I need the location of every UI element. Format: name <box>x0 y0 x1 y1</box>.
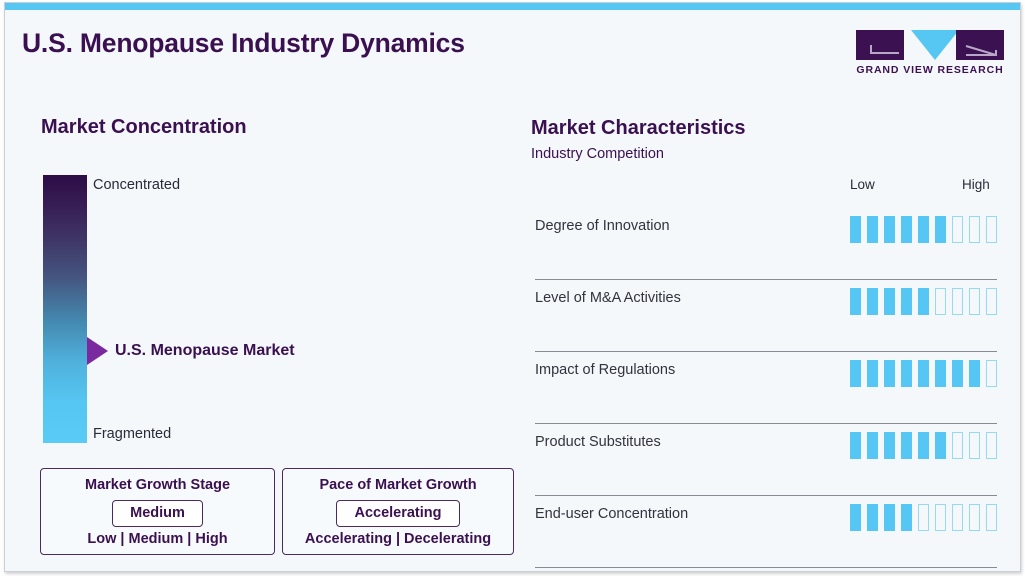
meter-segment-empty <box>952 288 963 315</box>
characteristic-meter <box>850 288 997 315</box>
pace-of-market-growth-box: Pace of Market Growth Accelerating Accel… <box>282 468 514 555</box>
meter-segment-empty <box>918 504 929 531</box>
meter-segment-empty <box>969 288 980 315</box>
logo-wordmark: GRAND VIEW RESEARCH <box>856 64 1004 76</box>
meter-segment-empty <box>969 432 980 459</box>
meter-segment-filled <box>918 360 929 387</box>
characteristic-label: Impact of Regulations <box>535 362 675 378</box>
meter-segment-empty <box>969 504 980 531</box>
meter-segment-empty <box>969 216 980 243</box>
characteristic-row: Impact of Regulations <box>535 352 997 424</box>
row-divider <box>535 567 997 568</box>
meter-segment-filled <box>901 288 912 315</box>
meter-segment-filled <box>884 432 895 459</box>
meter-segment-filled <box>901 504 912 531</box>
pace-of-market-growth-scale: Accelerating | Decelerating <box>283 531 513 547</box>
meter-segment-filled <box>935 432 946 459</box>
accent-top-bar <box>5 3 1020 10</box>
meter-segment-filled <box>969 360 980 387</box>
concentration-bottom-label: Fragmented <box>93 426 171 442</box>
characteristic-meter <box>850 504 997 531</box>
characteristic-meter <box>850 216 997 243</box>
meter-segment-empty <box>935 504 946 531</box>
meter-segment-filled <box>867 360 878 387</box>
meter-segment-empty <box>952 504 963 531</box>
characteristic-label: End-user Concentration <box>535 506 688 522</box>
meter-segment-empty <box>986 360 997 387</box>
meter-segment-filled <box>901 360 912 387</box>
meter-segment-filled <box>850 216 861 243</box>
logo-triangle-icon <box>911 30 959 60</box>
market-position-label: U.S. Menopause Market <box>115 342 295 360</box>
meter-segment-filled <box>918 288 929 315</box>
characteristic-row: Product Substitutes <box>535 424 997 496</box>
logo-slash-icon <box>956 30 1004 60</box>
meter-segment-empty <box>986 432 997 459</box>
market-growth-stage-box: Market Growth Stage Medium Low | Medium … <box>40 468 275 555</box>
characteristic-row: Level of M&A Activities <box>535 280 997 352</box>
meter-segment-filled <box>918 216 929 243</box>
infographic-card: U.S. Menopause Industry Dynamics GRAND V… <box>4 2 1021 572</box>
market-characteristics-subheading: Industry Competition <box>531 146 664 162</box>
meter-segment-filled <box>867 504 878 531</box>
characteristic-meter <box>850 360 997 387</box>
characteristic-meter <box>850 432 997 459</box>
meter-scale-low-label: Low <box>850 177 875 192</box>
characteristic-row: End-user Concentration <box>535 496 997 568</box>
market-growth-stage-value: Medium <box>112 500 203 527</box>
meter-segment-empty <box>952 432 963 459</box>
concentration-gradient-bar <box>43 175 87 443</box>
meter-segment-filled <box>884 288 895 315</box>
characteristic-label: Degree of Innovation <box>535 218 670 234</box>
meter-segment-filled <box>901 432 912 459</box>
meter-segment-filled <box>952 360 963 387</box>
meter-scale-high-label: High <box>962 177 990 192</box>
concentration-top-label: Concentrated <box>93 177 180 193</box>
market-growth-stage-title: Market Growth Stage <box>41 477 274 493</box>
meter-segment-filled <box>867 216 878 243</box>
pace-of-market-growth-title: Pace of Market Growth <box>283 477 513 493</box>
logo-notch-horizontal-icon <box>870 52 899 54</box>
meter-segment-empty <box>986 504 997 531</box>
logo-rect-left-icon <box>856 30 904 60</box>
pace-of-market-growth-value: Accelerating <box>336 500 459 527</box>
meter-segment-filled <box>850 504 861 531</box>
meter-segment-filled <box>884 360 895 387</box>
meter-segment-filled <box>850 360 861 387</box>
page-title: U.S. Menopause Industry Dynamics <box>22 28 465 59</box>
meter-segment-filled <box>867 432 878 459</box>
meter-segment-filled <box>918 432 929 459</box>
meter-segment-filled <box>901 216 912 243</box>
grand-view-research-logo: GRAND VIEW RESEARCH <box>856 30 1004 78</box>
meter-segment-filled <box>850 288 861 315</box>
market-characteristics-heading: Market Characteristics <box>531 117 746 140</box>
meter-segment-filled <box>884 504 895 531</box>
meter-segment-filled <box>850 432 861 459</box>
meter-segment-filled <box>935 216 946 243</box>
market-position-arrow-icon <box>87 337 108 365</box>
meter-segment-empty <box>935 288 946 315</box>
meter-segment-empty <box>952 216 963 243</box>
market-growth-stage-scale: Low | Medium | High <box>41 531 274 547</box>
meter-segment-empty <box>986 216 997 243</box>
characteristic-label: Product Substitutes <box>535 434 661 450</box>
market-growth-stage-value-wrap: Medium <box>41 500 274 527</box>
meter-segment-filled <box>884 216 895 243</box>
meter-segment-empty <box>986 288 997 315</box>
logo-rect-right-icon <box>956 30 1004 60</box>
characteristic-row: Degree of Innovation <box>535 208 997 280</box>
meter-segment-filled <box>935 360 946 387</box>
pace-of-market-growth-value-wrap: Accelerating <box>283 500 513 527</box>
characteristic-label: Level of M&A Activities <box>535 290 681 306</box>
meter-segment-filled <box>867 288 878 315</box>
market-concentration-heading: Market Concentration <box>41 116 247 139</box>
